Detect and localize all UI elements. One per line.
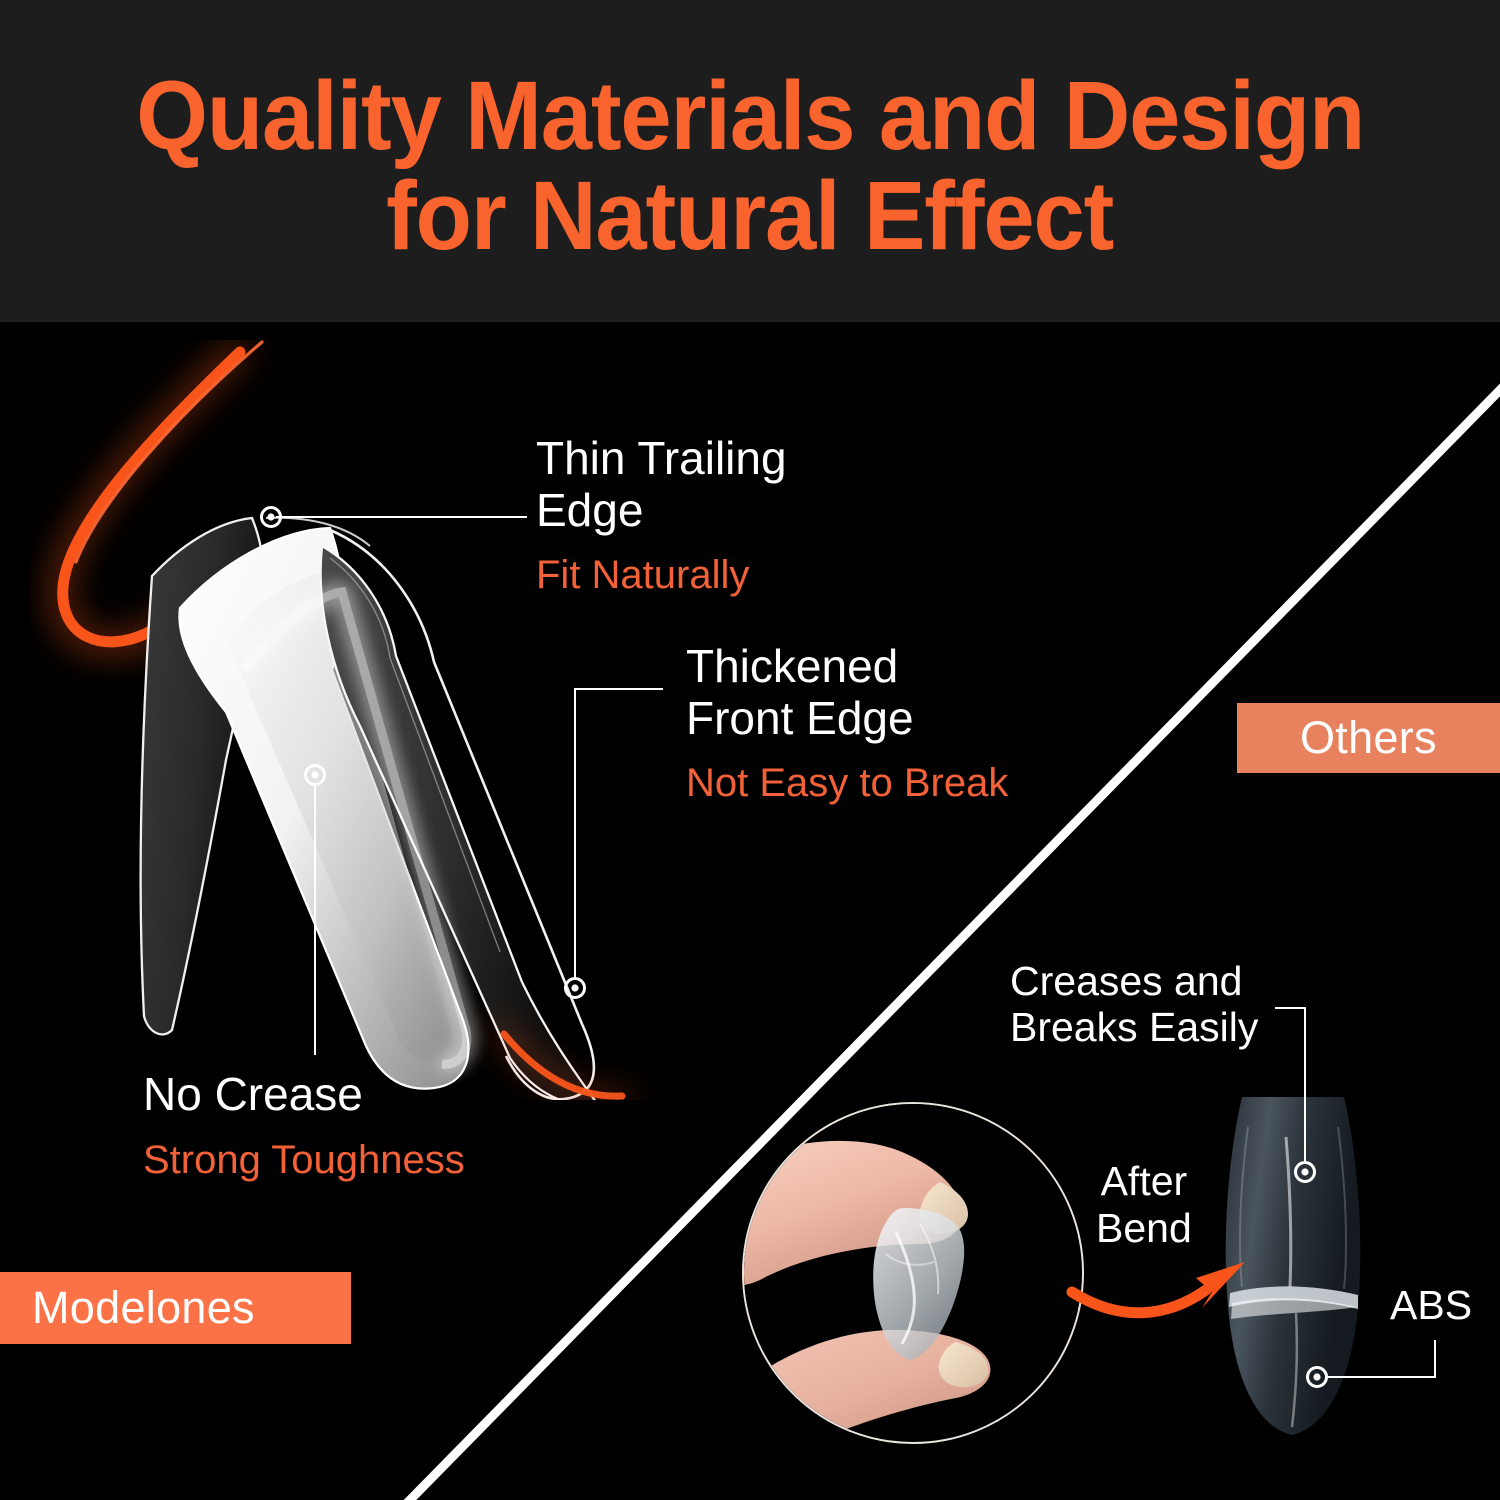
callout-thickened-front-edge: Thickened Front Edge Not Easy to Break [686,640,1008,807]
callout-subtitle: Strong Toughness [143,1136,465,1184]
callout-abs-material: ABS [1390,1282,1472,1329]
callout-no-crease: No Crease Strong Toughness [143,1068,465,1184]
callout-subtitle: Not Easy to Break [686,759,1008,807]
brand-badge-others: Others [1237,703,1500,773]
callout-title: After Bend [1096,1158,1192,1251]
callout-title: Creases and Breaks Easily [1010,958,1258,1051]
title-line-2: for Natural Effect [386,166,1113,266]
pinch-photo-inset [742,1102,1084,1444]
callout-title: ABS [1390,1282,1472,1329]
brand-badge-modelones: Modelones [0,1272,351,1344]
page-title: Quality Materials and Design for Natural… [0,0,1500,322]
abs-nail-tip-photo [1212,1097,1374,1437]
others-badge-label: Others [1300,712,1437,764]
brand-badge-label: Modelones [32,1282,255,1334]
callout-creases-breaks-easily: Creases and Breaks Easily [1010,958,1258,1051]
callout-title: Thin Trailing Edge [536,432,787,537]
callout-title: Thickened Front Edge [686,640,1008,745]
infographic-root: Quality Materials and Design for Natural… [0,0,1500,1500]
title-line-1: Quality Materials and Design [136,66,1364,166]
callout-thin-trailing-edge: Thin Trailing Edge Fit Naturally [536,432,787,599]
callout-subtitle: Fit Naturally [536,551,787,599]
callout-title: No Crease [143,1068,465,1120]
callout-after-bend: After Bend [1096,1158,1192,1251]
